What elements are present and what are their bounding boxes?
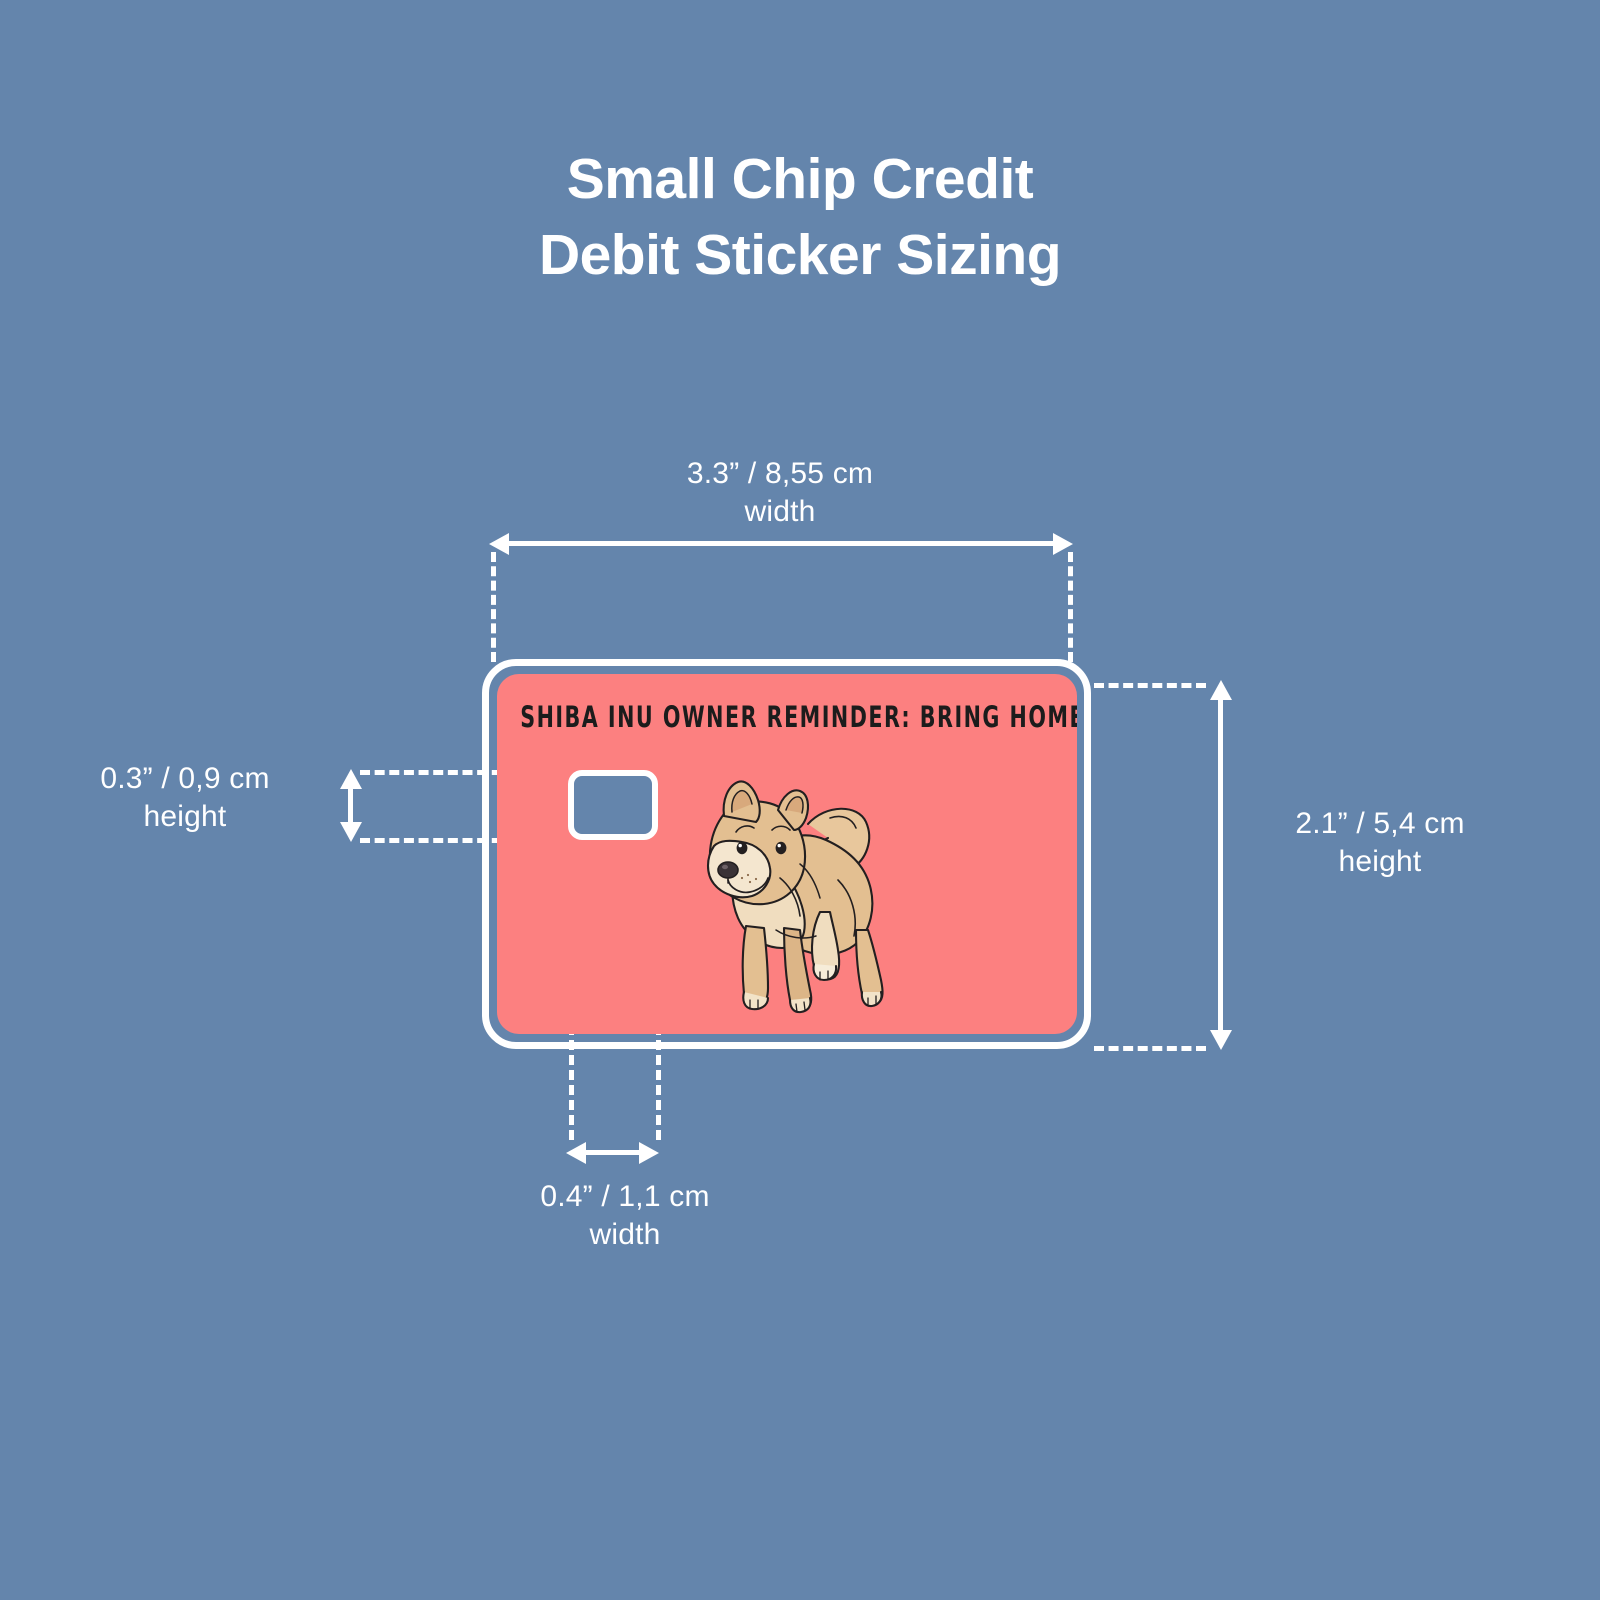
chip-height-arrowhead-bottom	[340, 822, 362, 842]
card-height-extension-top	[1094, 683, 1206, 688]
chip-cutout	[568, 770, 658, 840]
chip-height-arrow-line	[348, 787, 353, 825]
chip-height-label: 0.3” / 0,9 cm height	[40, 760, 330, 837]
card-width-arrow-line	[505, 541, 1057, 546]
chip-width-arrow-line	[583, 1150, 643, 1155]
sizing-diagram: Small Chip Credit Debit Sticker Sizing 3…	[0, 0, 1600, 1600]
page-title: Small Chip Credit Debit Sticker Sizing	[0, 142, 1600, 294]
chip-width-arrowhead-left	[566, 1142, 586, 1164]
card-width-extension-right	[1068, 552, 1073, 662]
card-width-label: 3.3” / 8,55 cm width	[560, 455, 1000, 532]
sticker-card[interactable]: SHIBA INU OWNER REMINDER: BRING HOME TRE…	[497, 674, 1077, 1034]
shiba-inu-illustration	[680, 760, 900, 1020]
chip-width-label: 0.4” / 1,1 cm width	[430, 1178, 820, 1255]
card-height-arrow-line	[1218, 698, 1223, 1032]
card-height-extension-bottom	[1094, 1046, 1206, 1051]
card-caption: SHIBA INU OWNER REMINDER: BRING HOME TRE…	[520, 700, 1054, 734]
card-width-extension-left	[491, 552, 496, 662]
chip-width-arrowhead-right	[639, 1142, 659, 1164]
card-height-arrowhead-bottom	[1210, 1030, 1232, 1050]
card-height-label: 2.1” / 5,4 cm height	[1205, 805, 1555, 882]
card-height-arrowhead-top	[1210, 680, 1232, 700]
chip-height-arrowhead-top	[340, 769, 362, 789]
